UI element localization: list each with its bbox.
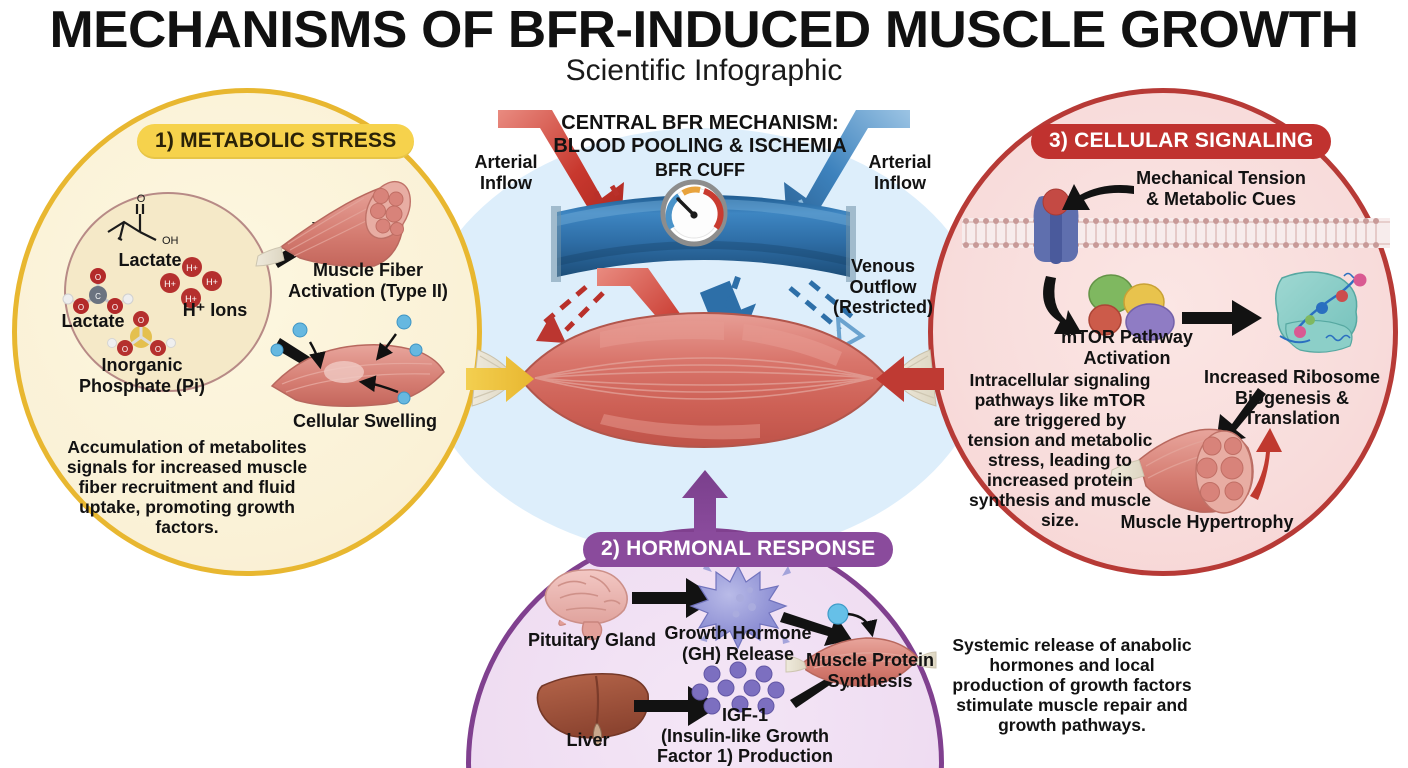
- page-subtitle: Scientific Infographic: [0, 54, 1408, 88]
- paragraph-hormonal-response: Systemic release of anabolic hormones an…: [952, 636, 1192, 736]
- label-mechanical-tension: Mechanical Tension & Metabolic Cues: [1126, 168, 1316, 209]
- venous-outflow-label: Venous Outflow (Restricted): [818, 256, 948, 318]
- label-muscle-fiber-activation: Muscle Fiber Activation (Type II): [278, 260, 458, 301]
- infographic-canvas: MECHANISMS OF BFR-INDUCED MUSCLE GROWTH …: [0, 0, 1408, 768]
- label-ribosome-biogenesis: Increased Ribosome Biogenesis & Translat…: [1192, 367, 1392, 429]
- label-muscle-protein-synthesis: Muscle Protein Synthesis: [800, 650, 940, 691]
- label-cellular-swelling: Cellular Swelling: [280, 411, 450, 432]
- central-heading-line-1: CENTRAL BFR MECHANISM:: [561, 112, 838, 134]
- page-title: MECHANISMS OF BFR-INDUCED MUSCLE GROWTH: [0, 2, 1408, 58]
- arterial-inflow-label-right: Arterial Inflow: [840, 152, 960, 193]
- label-liver: Liver: [533, 730, 643, 751]
- bfr-cuff-label: BFR CUFF: [605, 160, 795, 181]
- paragraph-metabolic-stress: Accumulation of metabolites signals for …: [62, 438, 312, 538]
- label-igf1: IGF-1 (Insulin-like Growth Factor 1) Pro…: [645, 705, 845, 767]
- label-lactate-ballstick: Lactate: [38, 311, 148, 332]
- badge-metabolic-stress[interactable]: 1) METABOLIC STRESS: [137, 124, 414, 159]
- badge-hormonal-response[interactable]: 2) HORMONAL RESPONSE: [583, 532, 893, 567]
- label-inorganic-phosphate: Inorganic Phosphate (Pi): [72, 355, 212, 396]
- badge-cellular-signaling[interactable]: 3) CELLULAR SIGNALING: [1031, 124, 1331, 159]
- label-hydrogen-ions: H⁺ Ions: [160, 300, 270, 321]
- arterial-inflow-label-left: Arterial Inflow: [446, 152, 566, 193]
- central-heading-line-2: BLOOD POOLING & ISCHEMIA: [553, 135, 846, 157]
- label-lactate-structure: Lactate: [95, 250, 205, 271]
- label-mtor-pathway: mTOR Pathway Activation: [1052, 327, 1202, 368]
- central-mechanism-heading: CENTRAL BFR MECHANISM: BLOOD POOLING & I…: [520, 112, 880, 158]
- label-pituitary-gland: Pituitary Gland: [512, 630, 672, 651]
- paragraph-cellular-signaling: Intracellular signaling pathways like mT…: [963, 371, 1157, 531]
